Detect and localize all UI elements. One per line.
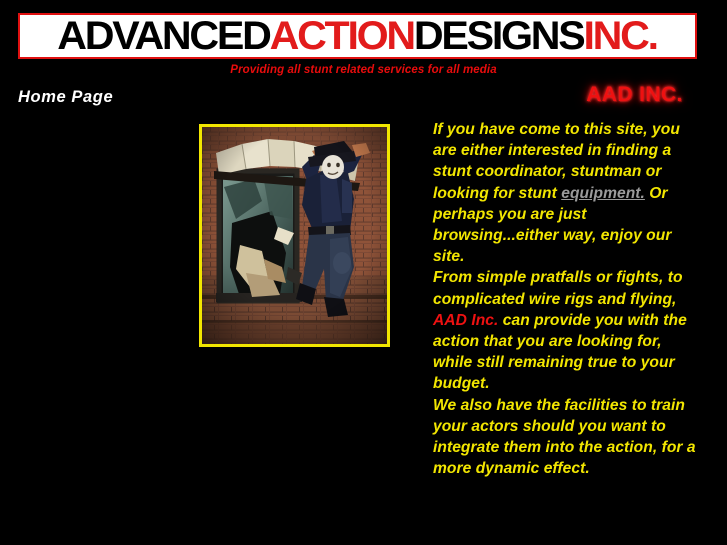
aad-inc-logo: AAD INC. xyxy=(572,82,697,108)
stunt-photo xyxy=(199,124,390,347)
copy-p2-lead: From simple pratfalls or fights, to comp… xyxy=(433,269,683,307)
wordmark-designs: DESIGNS xyxy=(414,14,584,58)
copy-paragraph-2: From simple pratfalls or fights, to comp… xyxy=(433,267,701,394)
company-wordmark: ADVANCEDACTIONDESIGNSINC. xyxy=(58,16,658,56)
wordmark-advanced: ADVANCED xyxy=(58,14,270,58)
site-masthead-banner: ADVANCEDACTIONDESIGNSINC. xyxy=(18,13,697,59)
aad-inc-logo-text: AAD INC. xyxy=(586,83,683,107)
intro-copy-block: If you have come to this site, you are e… xyxy=(433,119,701,479)
site-tagline: Providing all stunt related services for… xyxy=(0,64,727,76)
brand-name-inline: AAD Inc. xyxy=(433,312,498,329)
page-title: Home Page xyxy=(18,88,113,107)
equipment-link[interactable]: equipment. xyxy=(561,185,645,202)
copy-paragraph-1: If you have come to this site, you are e… xyxy=(433,119,701,267)
stunt-photo-graphic xyxy=(202,127,387,344)
wordmark-inc: INC. xyxy=(584,14,657,58)
wordmark-action: ACTION xyxy=(270,14,414,58)
copy-paragraph-3: We also have the facilities to train you… xyxy=(433,395,701,480)
